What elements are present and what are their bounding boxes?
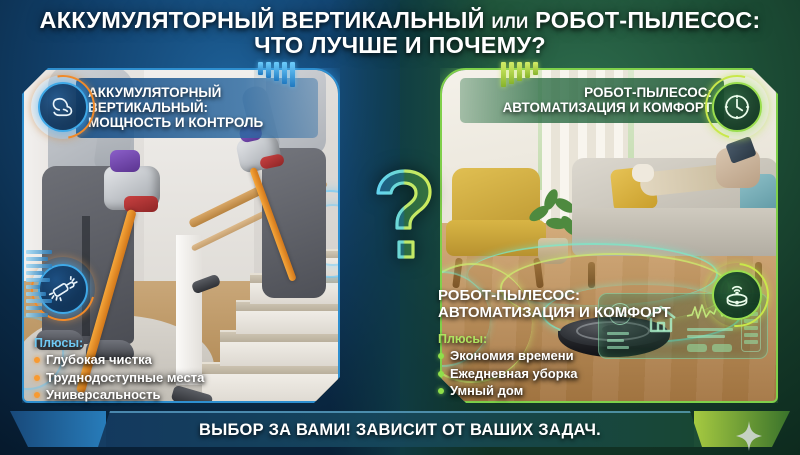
decor-stripes-right [501, 62, 538, 87]
right-subhead-line-2: АВТОМАТИЗАЦИЯ И КОМФОРТ [438, 305, 671, 322]
left-bullet-1: Глубокая чистка [46, 351, 152, 369]
bicep-flex-icon [38, 82, 88, 132]
left-ribbon-line-1: АККУМУЛЯТОРНЫЙ ВЕРТИКАЛЬНЫЙ: [88, 85, 306, 115]
bullet-dot-icon [438, 353, 444, 359]
list-item: Умный дом [438, 382, 577, 400]
list-item: Ежедневная уборка [438, 365, 577, 383]
footer-text: ВЫБОР ЗА ВАМИ! ЗАВИСИТ ОТ ВАШИХ ЗАДАЧ. [199, 421, 601, 440]
decor-stripes-left [258, 62, 295, 87]
infographic-canvas: АККУМУЛЯТОРНЫЙ ВЕРТИКАЛЬНЫЙ ИЛИ РОБОТ-ПЫ… [0, 0, 800, 455]
decor-vbars-left [26, 250, 54, 317]
footer-banner: ВЫБОР ЗА ВАМИ! ЗАВИСИТ ОТ ВАШИХ ЗАДАЧ. [98, 411, 702, 447]
right-benefits-list: Плюсы: Экономия времени Ежедневная уборк… [438, 332, 577, 400]
right-plus-label: Плюсы: [438, 332, 577, 346]
right-panel-ribbon: РОБОТ-ПЫЛЕСОС: АВТОМАТИЗАЦИЯ И КОМФОРТ [460, 78, 724, 123]
list-item: Глубокая чистка [34, 351, 204, 369]
bullet-dot-icon [438, 388, 444, 394]
left-ribbon-line-2: МОЩНОСТЬ И КОНТРОЛЬ [88, 115, 306, 130]
bullet-dot-icon [438, 371, 444, 377]
right-subheading: РОБОТ-ПЫЛЕСОС: АВТОМАТИЗАЦИЯ И КОМФОРТ [438, 288, 671, 322]
left-plus-label: Плюсы: [34, 336, 204, 350]
right-bullet-2: Ежедневная уборка [450, 365, 577, 383]
left-benefits-list: Плюсы: Глубокая чистка Труднодоступные м… [34, 336, 204, 404]
right-subhead-line-1: РОБОТ-ПЫЛЕСОС: [438, 288, 671, 305]
bullet-dot-icon [34, 392, 40, 398]
left-bullet-3: Универсальность [46, 386, 161, 404]
right-bullet-3: Умный дом [450, 382, 523, 400]
clock-icon [712, 82, 762, 132]
left-panel-ribbon: АККУМУЛЯТОРНЫЙ ВЕРТИКАЛЬНЫЙ: МОЩНОСТЬ И … [76, 78, 318, 138]
list-item: Универсальность [34, 386, 204, 404]
list-item: Экономия времени [438, 347, 577, 365]
bullet-dot-icon [34, 357, 40, 363]
robot-vacuum-wifi-icon [712, 270, 762, 320]
right-ribbon-line-2: АВТОМАТИЗАЦИЯ И КОМФОРТ [472, 100, 712, 115]
right-bullet-1: Экономия времени [450, 347, 574, 365]
sparkle-star-icon [736, 421, 762, 451]
list-item: Труднодоступные места [34, 369, 204, 387]
question-mark-icon [368, 168, 442, 260]
bullet-dot-icon [34, 375, 40, 381]
left-bullet-2: Труднодоступные места [46, 369, 204, 387]
right-ribbon-line-1: РОБОТ-ПЫЛЕСОС: [472, 85, 712, 100]
